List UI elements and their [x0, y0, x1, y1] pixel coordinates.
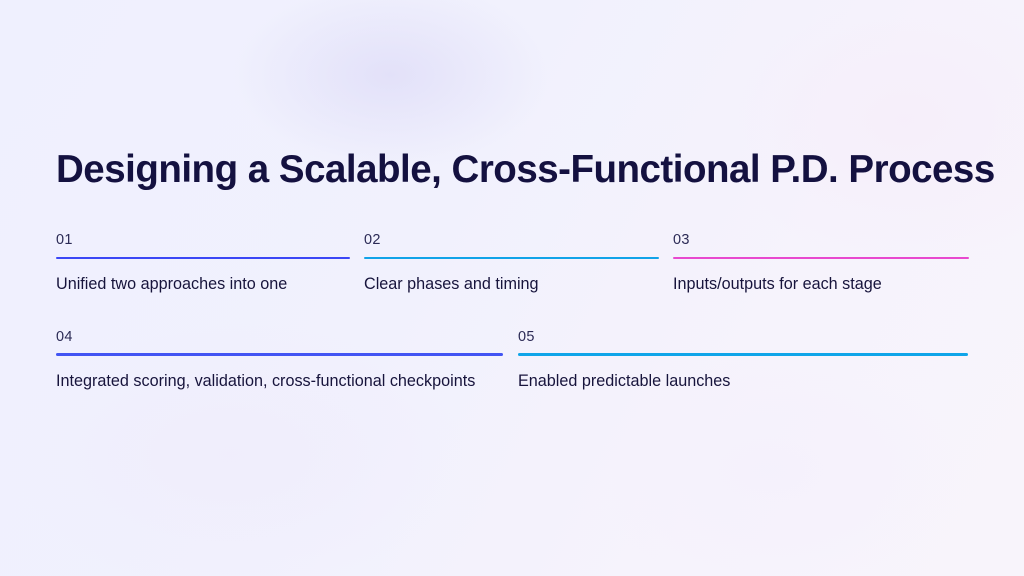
item-label: Integrated scoring, validation, cross-fu… [56, 370, 503, 393]
list-item[interactable]: 02 Clear phases and timing [364, 233, 659, 297]
item-accent-rule [518, 353, 968, 356]
list-item[interactable]: 05 Enabled predictable launches [518, 330, 968, 394]
item-row-primary: 01 Unified two approaches into one 02 Cl… [56, 233, 968, 297]
item-accent-rule [56, 257, 350, 260]
item-number: 02 [364, 233, 659, 257]
item-accent-rule [673, 257, 969, 260]
item-number: 05 [518, 330, 968, 354]
list-item[interactable]: 03 Inputs/outputs for each stage [673, 233, 969, 297]
slide-content: Designing a Scalable, Cross-Functional P… [56, 148, 968, 393]
item-row-secondary: 04 Integrated scoring, validation, cross… [56, 330, 968, 394]
page-title: Designing a Scalable, Cross-Functional P… [56, 148, 968, 191]
list-item[interactable]: 01 Unified two approaches into one [56, 233, 350, 297]
item-label: Enabled predictable launches [518, 370, 968, 393]
item-number: 03 [673, 233, 969, 257]
item-accent-rule [364, 257, 659, 260]
slide-canvas: Designing a Scalable, Cross-Functional P… [0, 0, 1024, 576]
item-number: 04 [56, 330, 503, 354]
item-label: Unified two approaches into one [56, 273, 350, 296]
item-number: 01 [56, 233, 350, 257]
item-label: Clear phases and timing [364, 273, 659, 296]
list-item[interactable]: 04 Integrated scoring, validation, cross… [56, 330, 503, 394]
item-label: Inputs/outputs for each stage [673, 273, 969, 296]
item-accent-rule [56, 353, 503, 356]
